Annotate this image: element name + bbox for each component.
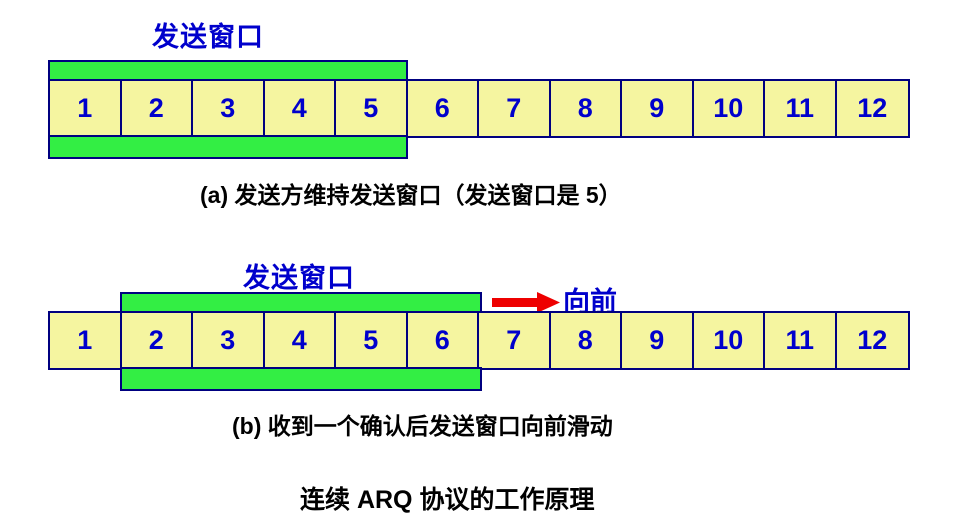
diagram-title: 连续 ARQ 协议的工作原理 bbox=[300, 480, 594, 516]
frame-cell[interactable]: 9 bbox=[622, 313, 694, 368]
frame-cell[interactable]: 5 bbox=[336, 81, 408, 136]
frame-cell[interactable]: 1 bbox=[50, 81, 122, 136]
frame-cell[interactable]: 3 bbox=[193, 81, 265, 136]
frame-cell[interactable]: 2 bbox=[122, 313, 194, 368]
frame-cell[interactable]: 6 bbox=[408, 81, 480, 136]
panel-b-window-bar-bottom bbox=[120, 367, 482, 391]
panel-a-window-label: 发送窗口 bbox=[152, 15, 264, 54]
panel-b-caption: (b) 收到一个确认后发送窗口向前滑动 bbox=[232, 407, 613, 441]
frame-cell[interactable]: 11 bbox=[765, 81, 837, 136]
frame-cell[interactable]: 8 bbox=[551, 313, 623, 368]
frame-cell[interactable]: 2 bbox=[122, 81, 194, 136]
frame-cell[interactable]: 4 bbox=[265, 81, 337, 136]
frame-cell[interactable]: 3 bbox=[193, 313, 265, 368]
frame-cell[interactable]: 12 bbox=[837, 313, 908, 368]
frame-cell[interactable]: 10 bbox=[694, 313, 766, 368]
frame-cell[interactable]: 8 bbox=[551, 81, 623, 136]
frame-cell[interactable]: 4 bbox=[265, 313, 337, 368]
panel-b-window-label: 发送窗口 bbox=[243, 256, 355, 295]
panel-b-frame-row: 1 2 3 4 5 6 7 8 9 10 11 12 bbox=[48, 311, 910, 370]
panel-a-frame-row: 1 2 3 4 5 6 7 8 9 10 11 12 bbox=[48, 79, 910, 138]
panel-a-caption: (a) 发送方维持发送窗口（发送窗口是 5） bbox=[200, 176, 622, 210]
frame-cell[interactable]: 1 bbox=[50, 313, 122, 368]
panel-a-window-bar-bottom bbox=[48, 135, 408, 159]
frame-cell[interactable]: 5 bbox=[336, 313, 408, 368]
diagram-canvas: 发送窗口 1 2 3 4 5 6 7 8 9 10 11 12 (a) 发送方维… bbox=[0, 0, 958, 523]
frame-cell[interactable]: 12 bbox=[837, 81, 908, 136]
frame-cell[interactable]: 9 bbox=[622, 81, 694, 136]
frame-cell[interactable]: 7 bbox=[479, 313, 551, 368]
frame-cell[interactable]: 10 bbox=[694, 81, 766, 136]
frame-cell[interactable]: 7 bbox=[479, 81, 551, 136]
frame-cell[interactable]: 11 bbox=[765, 313, 837, 368]
frame-cell[interactable]: 6 bbox=[408, 313, 480, 368]
